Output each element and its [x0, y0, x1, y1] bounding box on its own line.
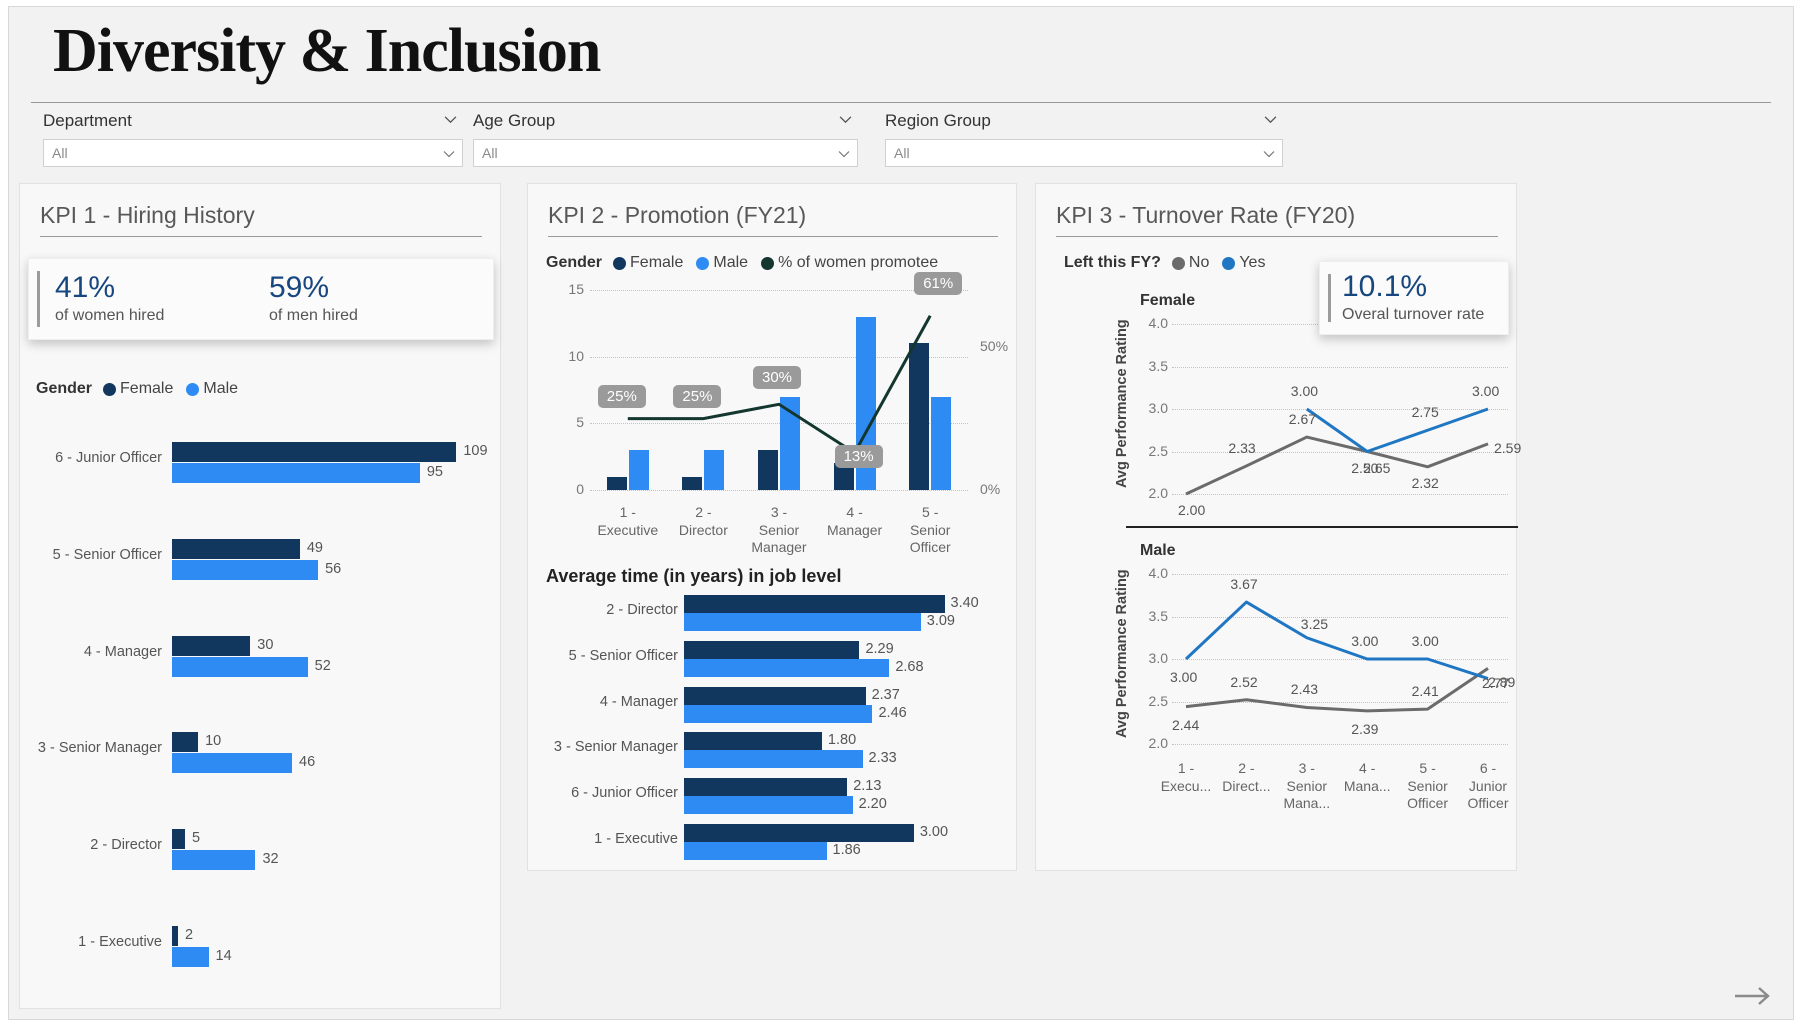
bar-value-label: 56	[325, 561, 341, 577]
bar-value-label: 49	[307, 540, 323, 556]
chevron-down-icon[interactable]	[1264, 113, 1277, 126]
slicer-age-group[interactable]: Age Group All	[473, 107, 858, 169]
kpi2-title-underline	[548, 236, 998, 237]
bar-value-label: 2.13	[853, 778, 881, 794]
table-row: 3 - Senior Manager1046	[20, 710, 502, 807]
legend-dot-no	[1172, 257, 1185, 270]
bar-male	[684, 659, 889, 677]
bar-male	[172, 657, 308, 677]
data-label: 25%	[598, 385, 646, 408]
y-axis-tick: 0	[560, 481, 584, 497]
y-axis-tick: 2.0	[1134, 735, 1168, 751]
point-label-yes: 3.67	[1230, 576, 1257, 592]
bar-value-label: 3.40	[951, 595, 979, 611]
slicer-value-text: All	[482, 145, 498, 161]
chevron-down-icon[interactable]	[1263, 148, 1275, 160]
dashboard-page: Diversity & Inclusion Department All Age…	[8, 6, 1794, 1020]
gridline	[1172, 744, 1508, 745]
y-axis-tick: 3.5	[1134, 608, 1168, 624]
legend-item-male[interactable]: Male	[186, 380, 238, 398]
point-label-yes: 3.00	[1291, 383, 1318, 399]
kpi1-title: KPI 1 - Hiring History	[40, 202, 255, 229]
bar-male	[172, 463, 420, 483]
gridline	[1172, 702, 1508, 703]
data-label: 13%	[835, 445, 883, 468]
bar-male	[172, 753, 292, 773]
point-label-yes: 2.65	[1363, 460, 1390, 476]
gridline	[1172, 494, 1508, 495]
kpi3-turnover-banner: 10.1% Overal turnover rate	[1319, 261, 1509, 335]
legend-dot-yes	[1222, 257, 1235, 270]
gridline	[1172, 409, 1508, 410]
hbar-category-label: 3 - Senior Manager	[538, 739, 678, 755]
slicer-value-text: All	[894, 145, 910, 161]
table-row: 4 - Manager3052	[20, 613, 502, 710]
hbar-category-label: 4 - Manager	[538, 694, 678, 710]
table-row: 5 - Senior Officer2.292.68	[528, 642, 1018, 688]
point-label-no: 2.32	[1412, 475, 1439, 491]
kpi1-card: KPI 1 - Hiring History 41% of women hire…	[19, 183, 501, 1009]
y-axis-title: Avg Performance Rating	[1114, 319, 1130, 488]
bar-value-label: 2.37	[872, 687, 900, 703]
legend-label-male: Male	[203, 380, 238, 398]
x-axis-tick: 3 -SeniorMana...	[1277, 760, 1337, 813]
kpi1-stat-1-value: 59%	[269, 271, 358, 304]
point-label-yes: 2.75	[1412, 404, 1439, 420]
y-axis-tick: 4.0	[1134, 565, 1168, 581]
bar-value-label: 2.68	[895, 659, 923, 675]
legend-item-pct-women[interactable]: % of women promotee	[761, 254, 938, 272]
kpi1-stat-0-label: of women hired	[55, 307, 164, 325]
legend-item-female[interactable]: Female	[613, 254, 683, 272]
bar-male	[172, 850, 255, 870]
y-axis-tick: 3.0	[1134, 650, 1168, 666]
point-label-yes: 3.00	[1170, 669, 1197, 685]
hbar-category-label: 6 - Junior Officer	[538, 785, 678, 801]
point-label-yes: 3.00	[1351, 633, 1378, 649]
bar-female	[684, 824, 914, 842]
bar-male	[684, 796, 853, 814]
legend-label-female: Female	[630, 254, 683, 272]
point-label-yes: 3.00	[1472, 383, 1499, 399]
x-axis-tick: 2 -Direct...	[1216, 760, 1276, 795]
bar-male	[684, 750, 863, 768]
y2-axis-tick: 50%	[980, 338, 1008, 354]
bar-value-label: 1.80	[828, 732, 856, 748]
legend-dot-female	[613, 257, 626, 270]
bar-value-label: 3.09	[927, 613, 955, 629]
legend-dot-male	[696, 257, 709, 270]
hbar-category-label: 1 - Executive	[538, 831, 678, 847]
point-label-no: 2.52	[1230, 674, 1257, 690]
point-label-no: 2.43	[1291, 681, 1318, 697]
kpi2-card: KPI 2 - Promotion (FY21) Gender Female M…	[527, 183, 1017, 871]
kpi1-stat-1-label: of men hired	[269, 307, 358, 325]
slicer-region-group[interactable]: Region Group All	[885, 107, 1283, 169]
bar-female	[172, 732, 198, 752]
gridline	[1172, 617, 1508, 618]
legend-dot-female	[103, 383, 116, 396]
column-female	[909, 343, 929, 490]
gridline	[590, 490, 968, 491]
slicer-label: Age Group	[473, 111, 555, 131]
bar-male	[684, 613, 921, 631]
kpi3-title: KPI 3 - Turnover Rate (FY20)	[1056, 202, 1355, 229]
table-row: 4 - Manager2.372.46	[528, 688, 1018, 734]
y-axis-tick: 2.0	[1134, 485, 1168, 501]
bar-value-label: 5	[192, 830, 200, 846]
bar-value-label: 2.33	[869, 750, 897, 766]
kpi3-female-line-chart: 2.02.53.03.54.0Avg Performance Rating2.0…	[1036, 308, 1518, 524]
gridline	[1172, 574, 1508, 575]
hbar-category-label: 4 - Manager	[32, 644, 162, 660]
bar-value-label: 2.20	[859, 796, 887, 812]
bar-value-label: 109	[463, 443, 487, 459]
hbar-category-label: 5 - Senior Officer	[538, 648, 678, 664]
kpi1-banner: 41% of women hired 59% of men hired	[28, 258, 494, 340]
point-label-no: 2.67	[1289, 411, 1316, 427]
column-male	[629, 450, 649, 490]
data-label: 61%	[914, 272, 962, 295]
kpi2-avg-time-chart: 2 - Director3.403.095 - Senior Officer2.…	[528, 592, 1018, 867]
bar-value-label: 52	[315, 658, 331, 674]
legend-item-no[interactable]: No	[1172, 254, 1209, 272]
table-row: 2 - Director532	[20, 807, 502, 904]
bar-female	[684, 595, 945, 613]
y-axis-tick: 2.5	[1134, 693, 1168, 709]
legend-label-male: Male	[713, 254, 748, 272]
bar-value-label: 2.46	[878, 705, 906, 721]
point-label-no: 2.33	[1228, 440, 1255, 456]
accent-bar	[37, 271, 40, 327]
legend-item-yes[interactable]: Yes	[1222, 254, 1265, 272]
slicer-value-region-group[interactable]: All	[885, 139, 1283, 167]
slicer-department[interactable]: Department All	[43, 107, 463, 169]
gridline	[1172, 659, 1508, 660]
bar-value-label: 3.00	[920, 824, 948, 840]
slicer-label: Department	[43, 111, 132, 131]
bar-female	[684, 732, 822, 750]
line-series	[1036, 308, 1518, 584]
kpi3-panel-divider	[1126, 526, 1518, 528]
bar-female	[172, 829, 185, 849]
bar-value-label: 2	[185, 927, 193, 943]
column-male	[931, 397, 951, 490]
y-axis-tick: 4.0	[1134, 315, 1168, 331]
bar-female	[172, 442, 456, 462]
column-female	[758, 450, 778, 490]
bar-value-label: 32	[262, 851, 278, 867]
legend-dot-pct-women	[761, 257, 774, 270]
point-label-no: 2.41	[1412, 683, 1439, 699]
chevron-down-icon[interactable]	[839, 113, 852, 126]
x-axis-tick: 4 -Manager	[817, 504, 893, 539]
column-male	[780, 397, 800, 490]
accent-bar	[1328, 274, 1331, 322]
bar-value-label: 46	[299, 754, 315, 770]
y-axis-tick: 2.5	[1134, 443, 1168, 459]
x-axis-tick: 6 -JuniorOfficer	[1458, 760, 1518, 813]
kpi1-legend: Gender Female Male	[36, 380, 246, 398]
x-axis-tick: 3 -Senior Manager	[741, 504, 817, 557]
bar-female	[172, 539, 300, 559]
kpi2-legend: Gender Female Male % of women promotee	[546, 254, 946, 272]
x-axis-tick: 1 -Execu...	[1156, 760, 1216, 795]
hbar-category-label: 2 - Director	[32, 837, 162, 853]
bar-value-label: 2.29	[865, 641, 893, 657]
chevron-down-icon[interactable]	[838, 148, 850, 160]
table-row: 5 - Senior Officer4956	[20, 517, 502, 614]
chevron-down-icon[interactable]	[444, 113, 457, 126]
legend-item-female[interactable]: Female	[103, 380, 173, 398]
gridline	[590, 290, 968, 291]
kpi3-legend: Left this FY? No Yes	[1064, 254, 1273, 272]
slicer-value-department[interactable]: All	[43, 139, 463, 167]
table-row: 3 - Senior Manager1.802.33	[528, 734, 1018, 780]
bar-value-label: 95	[427, 464, 443, 480]
bar-male	[172, 947, 209, 967]
kpi1-title-underline	[40, 236, 482, 237]
gridline	[1172, 367, 1508, 368]
bar-value-label: 10	[205, 733, 221, 749]
legend-label-yes: Yes	[1239, 254, 1265, 272]
kpi3-title-underline	[1056, 236, 1498, 237]
y-axis-tick: 10	[560, 348, 584, 364]
y-axis-tick: 15	[560, 281, 584, 297]
bar-value-label: 1.86	[833, 842, 861, 858]
kpi2-subtitle: Average time (in years) in job level	[546, 566, 841, 587]
point-label-no: 2.44	[1172, 717, 1199, 733]
y-axis-tick: 3.5	[1134, 358, 1168, 374]
table-row: 2 - Director3.403.09	[528, 596, 1018, 642]
kpi3-banner-label: Overal turnover rate	[1342, 306, 1484, 324]
bar-female	[684, 641, 859, 659]
kpi1-stat-0-value: 41%	[55, 271, 164, 304]
kpi3-male-line-chart: 2.02.53.03.54.0Avg Performance Rating2.4…	[1036, 558, 1518, 868]
bar-male	[684, 705, 872, 723]
bar-value-label: 14	[216, 948, 232, 964]
y-axis-tick: 5	[560, 414, 584, 430]
legend-label-female: Female	[120, 380, 173, 398]
point-label-no: 2.00	[1178, 502, 1205, 518]
column-male	[704, 450, 724, 490]
page-title: Diversity & Inclusion	[53, 13, 600, 91]
chevron-down-icon[interactable]	[443, 148, 455, 160]
kpi1-bar-chart: 6 - Junior Officer109955 - Senior Office…	[20, 412, 502, 992]
hbar-category-label: 3 - Senior Manager	[32, 740, 162, 756]
arrow-right-icon[interactable]	[1733, 983, 1773, 1009]
kpi3-banner-value: 10.1%	[1342, 270, 1484, 303]
gridline	[1172, 452, 1508, 453]
legend-label-no: No	[1189, 254, 1209, 272]
x-axis-tick: 5 -SeniorOfficer	[1397, 760, 1457, 813]
point-label-no: 2.39	[1351, 721, 1378, 737]
bar-value-label: 30	[257, 637, 273, 653]
table-row: 1 - Executive214	[20, 903, 502, 1000]
legend-label-pct-women: % of women promotee	[778, 254, 938, 272]
data-label: 25%	[673, 385, 721, 408]
slicer-label: Region Group	[885, 111, 991, 131]
point-label-yes: 2.77	[1482, 675, 1509, 691]
hbar-category-label: 5 - Senior Officer	[32, 547, 162, 563]
legend-title: Gender	[546, 254, 602, 272]
point-label-yes: 3.00	[1412, 633, 1439, 649]
x-axis-tick: 2 -Director	[666, 504, 742, 539]
hbar-category-label: 2 - Director	[538, 602, 678, 618]
table-row: 6 - Junior Officer10995	[20, 420, 502, 517]
x-axis-tick: 5 -Senior Officer	[892, 504, 968, 557]
kpi2-combo-chart: 05101550%0%1 -Executive2 -Director3 -Sen…	[528, 280, 1018, 560]
legend-title: Gender	[36, 380, 92, 398]
hbar-category-label: 6 - Junior Officer	[32, 450, 162, 466]
x-axis-tick: 4 -Mana...	[1337, 760, 1397, 795]
bar-female	[172, 636, 250, 656]
column-female	[607, 477, 627, 490]
data-label: 30%	[753, 366, 801, 389]
column-female	[682, 477, 702, 490]
bar-female	[684, 778, 847, 796]
y2-axis-tick: 0%	[980, 481, 1000, 497]
bar-female	[684, 687, 866, 705]
table-row: 1 - Executive3.001.86	[528, 825, 1018, 871]
bar-female	[172, 926, 178, 946]
x-axis-tick: 1 -Executive	[590, 504, 666, 539]
legend-title: Left this FY?	[1064, 254, 1161, 272]
point-label-no: 2.59	[1494, 440, 1521, 456]
y-axis-title: Avg Performance Rating	[1114, 569, 1130, 738]
hbar-category-label: 1 - Executive	[32, 934, 162, 950]
y-axis-tick: 3.0	[1134, 400, 1168, 416]
point-label-yes: 3.25	[1301, 616, 1328, 632]
slicer-value-text: All	[52, 145, 68, 161]
legend-item-male[interactable]: Male	[696, 254, 748, 272]
bar-male	[684, 842, 827, 860]
bar-male	[172, 560, 318, 580]
table-row: 6 - Junior Officer2.132.20	[528, 779, 1018, 825]
slicer-value-age-group[interactable]: All	[473, 139, 858, 167]
legend-dot-male	[186, 383, 199, 396]
kpi2-title: KPI 2 - Promotion (FY21)	[548, 202, 806, 229]
header-divider	[31, 102, 1771, 103]
